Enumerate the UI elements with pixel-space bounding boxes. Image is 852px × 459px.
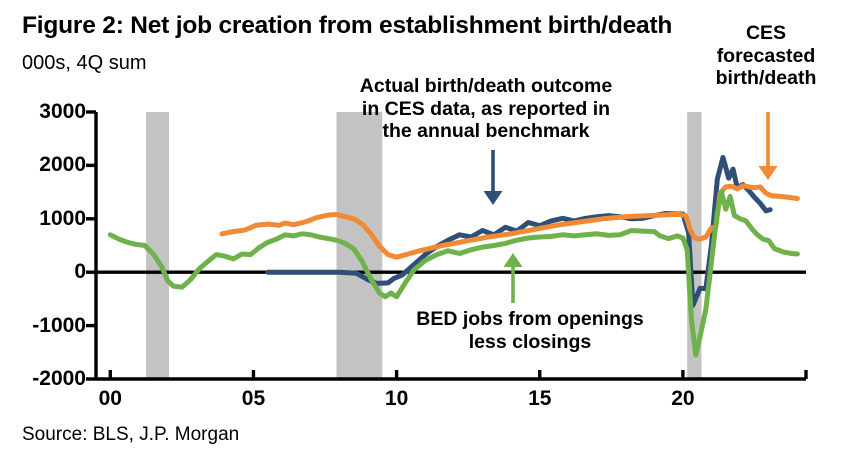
x-axis-tick-label: 15 xyxy=(515,387,565,411)
x-axis-tick-label: 20 xyxy=(658,387,708,411)
recession-band xyxy=(146,112,169,379)
x-axis-tick-label: 00 xyxy=(85,387,135,411)
source-note: Source: BLS, J.P. Morgan xyxy=(22,424,239,446)
annotation-bed: BED jobs from openings less closings xyxy=(400,308,660,353)
figure-container: Figure 2: Net job creation from establis… xyxy=(0,0,852,459)
x-axis-tick-label: 10 xyxy=(372,387,422,411)
y-axis-tick-label: 0 xyxy=(8,260,86,284)
annotation-arrow-ces-forecast-head xyxy=(759,166,778,180)
y-axis-tick-label: -2000 xyxy=(8,367,86,391)
y-axis-tick-label: 3000 xyxy=(8,100,86,124)
y-axis-tick-label: 1000 xyxy=(8,207,86,231)
annotation-ces-actual: Actual birth/death outcome in CES data, … xyxy=(352,75,620,143)
y-axis-tick-label: -1000 xyxy=(8,314,86,338)
annotation-ces-forecast: CES forecasted birth/death xyxy=(700,22,832,90)
x-axis-tick-label: 05 xyxy=(228,387,278,411)
y-axis-tick-label: 2000 xyxy=(8,153,86,177)
annotation-arrow-ces-actual-head xyxy=(484,191,503,205)
recession-band xyxy=(336,112,382,379)
annotation-arrow-bed-head xyxy=(504,253,523,267)
